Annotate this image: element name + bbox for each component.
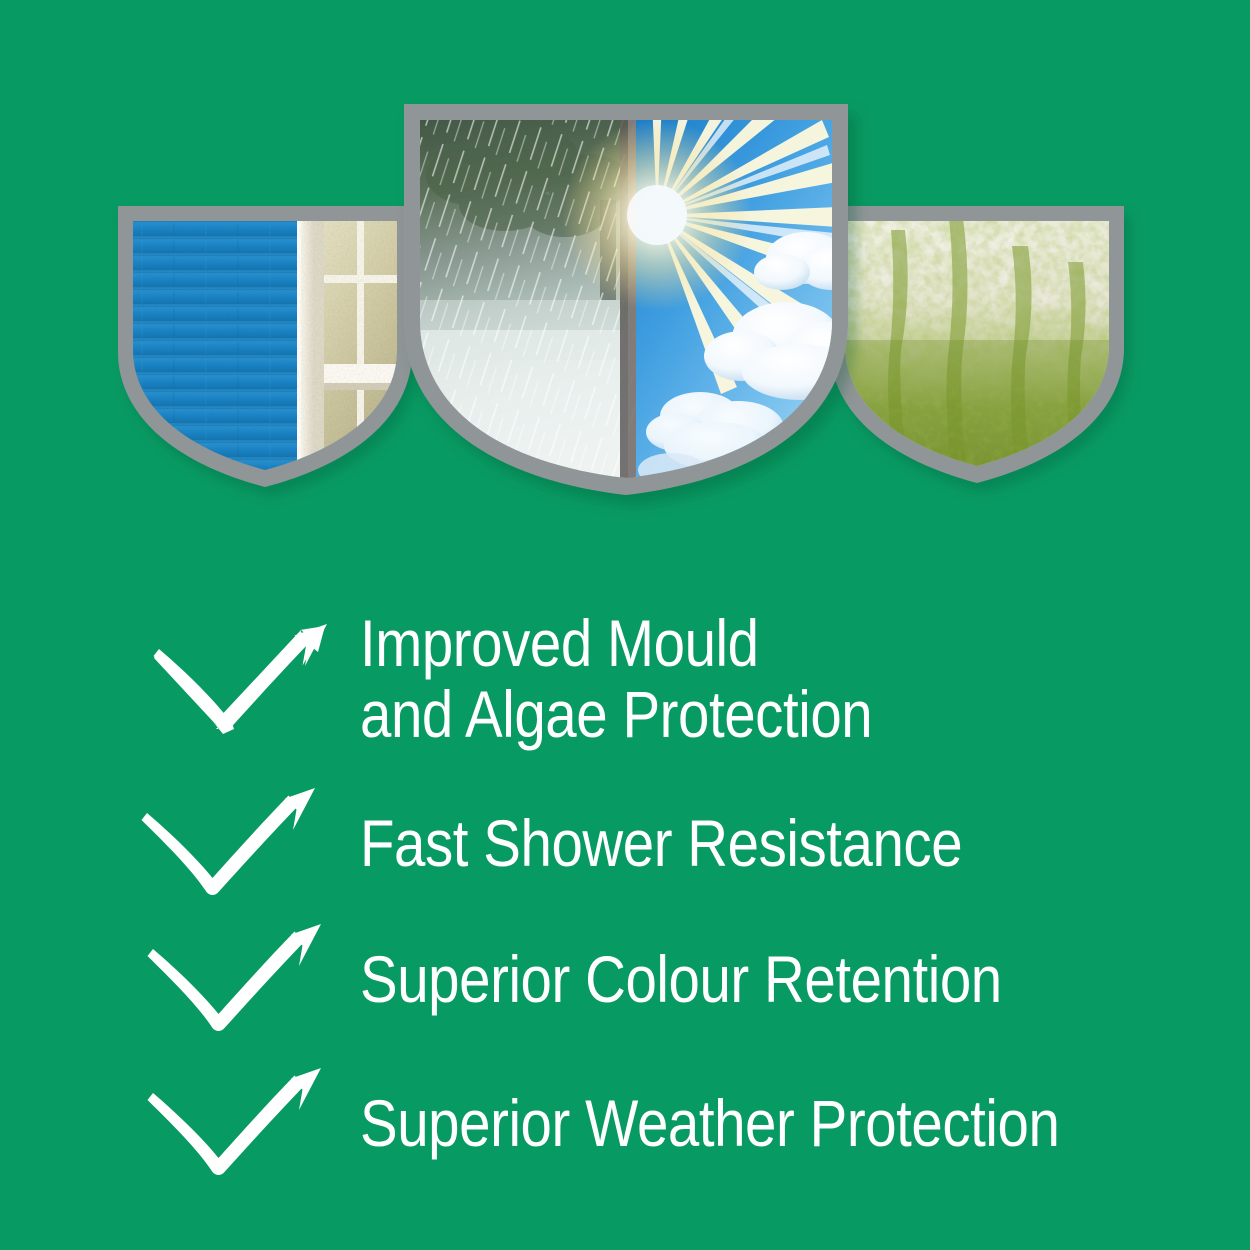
promo-page: Improved Mould and Algae Protection Fast… — [0, 0, 1250, 1250]
benefit-item: Superior Weather Protection — [0, 1052, 1250, 1192]
shield-left-image — [120, 205, 420, 495]
shield-right-image — [832, 205, 1132, 495]
check-arrow-icon — [138, 786, 328, 906]
benefit-label: Superior Colour Retention — [360, 944, 1002, 1015]
benefit-item: Superior Colour Retention — [0, 912, 1250, 1052]
benefit-label: Improved Mould and Algae Protection — [360, 608, 872, 749]
benefit-label: Superior Weather Protection — [360, 1088, 1059, 1159]
shield-group — [0, 0, 1250, 560]
benefit-label: Fast Shower Resistance — [360, 808, 962, 879]
shield-left — [118, 205, 420, 495]
benefit-item: Fast Shower Resistance — [0, 772, 1250, 912]
check-arrow-icon — [144, 1066, 334, 1186]
benefit-item: Improved Mould and Algae Protection — [0, 596, 1250, 772]
benefits-list: Improved Mould and Algae Protection Fast… — [0, 596, 1250, 1192]
check-arrow-icon — [144, 922, 334, 1042]
shield-center — [404, 32, 872, 500]
shield-right — [830, 205, 1132, 495]
check-arrow-icon — [150, 622, 340, 742]
